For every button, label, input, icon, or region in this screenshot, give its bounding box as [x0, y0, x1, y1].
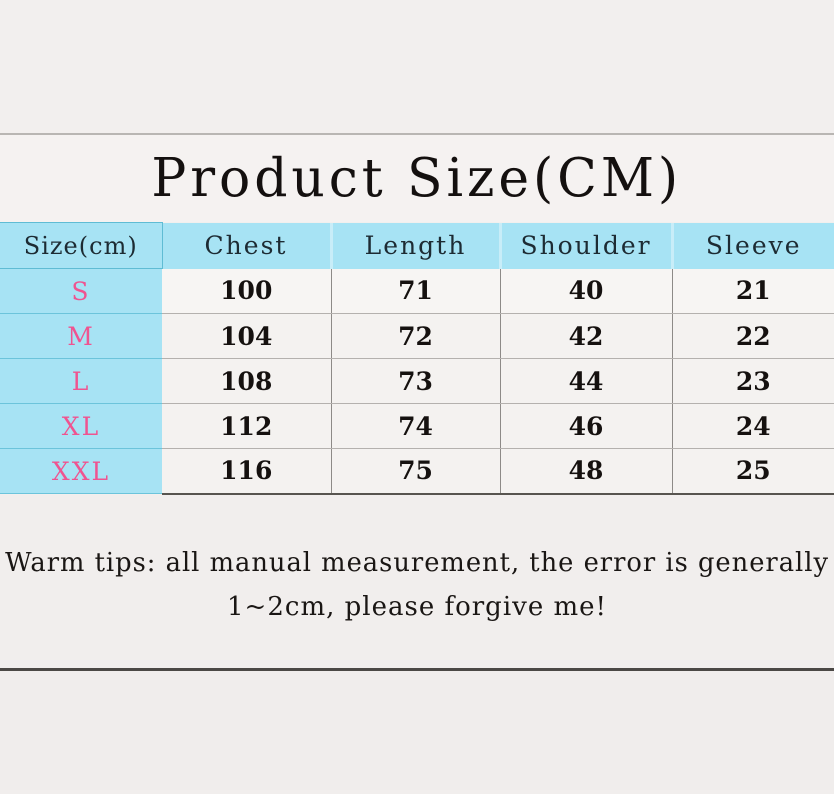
cell-sleeve: 21: [672, 269, 834, 314]
cell-length: 75: [331, 449, 500, 494]
size-chart-page: Product Size(CM) Size(cm) Chest Length S…: [0, 0, 834, 794]
cell-chest: 108: [162, 359, 331, 404]
cell-size: S: [0, 269, 162, 314]
warm-tips-line-1: Warm tips: all manual measurement, the e…: [5, 541, 829, 585]
table-row: L 108 73 44 23: [0, 359, 834, 404]
warm-tips-block: Warm tips: all manual measurement, the e…: [0, 495, 834, 668]
cell-sleeve: 22: [672, 314, 834, 359]
warm-tips-line-2: 1~2cm, please forgive me!: [227, 585, 607, 629]
table-header-row: Size(cm) Chest Length Shoulder Sleeve: [0, 223, 834, 269]
cell-length: 73: [331, 359, 500, 404]
table-header: Size(cm) Chest Length Shoulder Sleeve: [0, 223, 834, 269]
table-row: S 100 71 40 21: [0, 269, 834, 314]
cell-size: M: [0, 314, 162, 359]
cell-sleeve: 25: [672, 449, 834, 494]
cell-sleeve: 24: [672, 404, 834, 449]
column-header-sleeve: Sleeve: [672, 223, 834, 269]
cell-size: XXL: [0, 449, 162, 494]
cell-chest: 116: [162, 449, 331, 494]
cell-length: 71: [331, 269, 500, 314]
bottom-blank-band: [0, 671, 834, 790]
column-header-chest: Chest: [162, 223, 331, 269]
cell-chest: 100: [162, 269, 331, 314]
cell-size: XL: [0, 404, 162, 449]
column-header-shoulder: Shoulder: [500, 223, 672, 269]
cell-shoulder: 48: [500, 449, 672, 494]
table-row: XL 112 74 46 24: [0, 404, 834, 449]
cell-chest: 104: [162, 314, 331, 359]
column-header-length: Length: [331, 223, 500, 269]
cell-shoulder: 40: [500, 269, 672, 314]
cell-shoulder: 42: [500, 314, 672, 359]
cell-length: 72: [331, 314, 500, 359]
cell-size: L: [0, 359, 162, 404]
product-size-table: Size(cm) Chest Length Shoulder Sleeve S …: [0, 222, 834, 495]
cell-sleeve: 23: [672, 359, 834, 404]
table-row: M 104 72 42 22: [0, 314, 834, 359]
table-row: XXL 116 75 48 25: [0, 449, 834, 494]
title-block: Product Size(CM): [0, 135, 834, 222]
cell-chest: 112: [162, 404, 331, 449]
cell-length: 74: [331, 404, 500, 449]
cell-shoulder: 44: [500, 359, 672, 404]
top-blank-band: [0, 0, 834, 133]
cell-shoulder: 46: [500, 404, 672, 449]
table-body: S 100 71 40 21 M 104 72 42 22 L 108 73 4…: [0, 269, 834, 494]
page-title: Product Size(CM): [152, 148, 683, 209]
column-header-size: Size(cm): [0, 223, 162, 269]
